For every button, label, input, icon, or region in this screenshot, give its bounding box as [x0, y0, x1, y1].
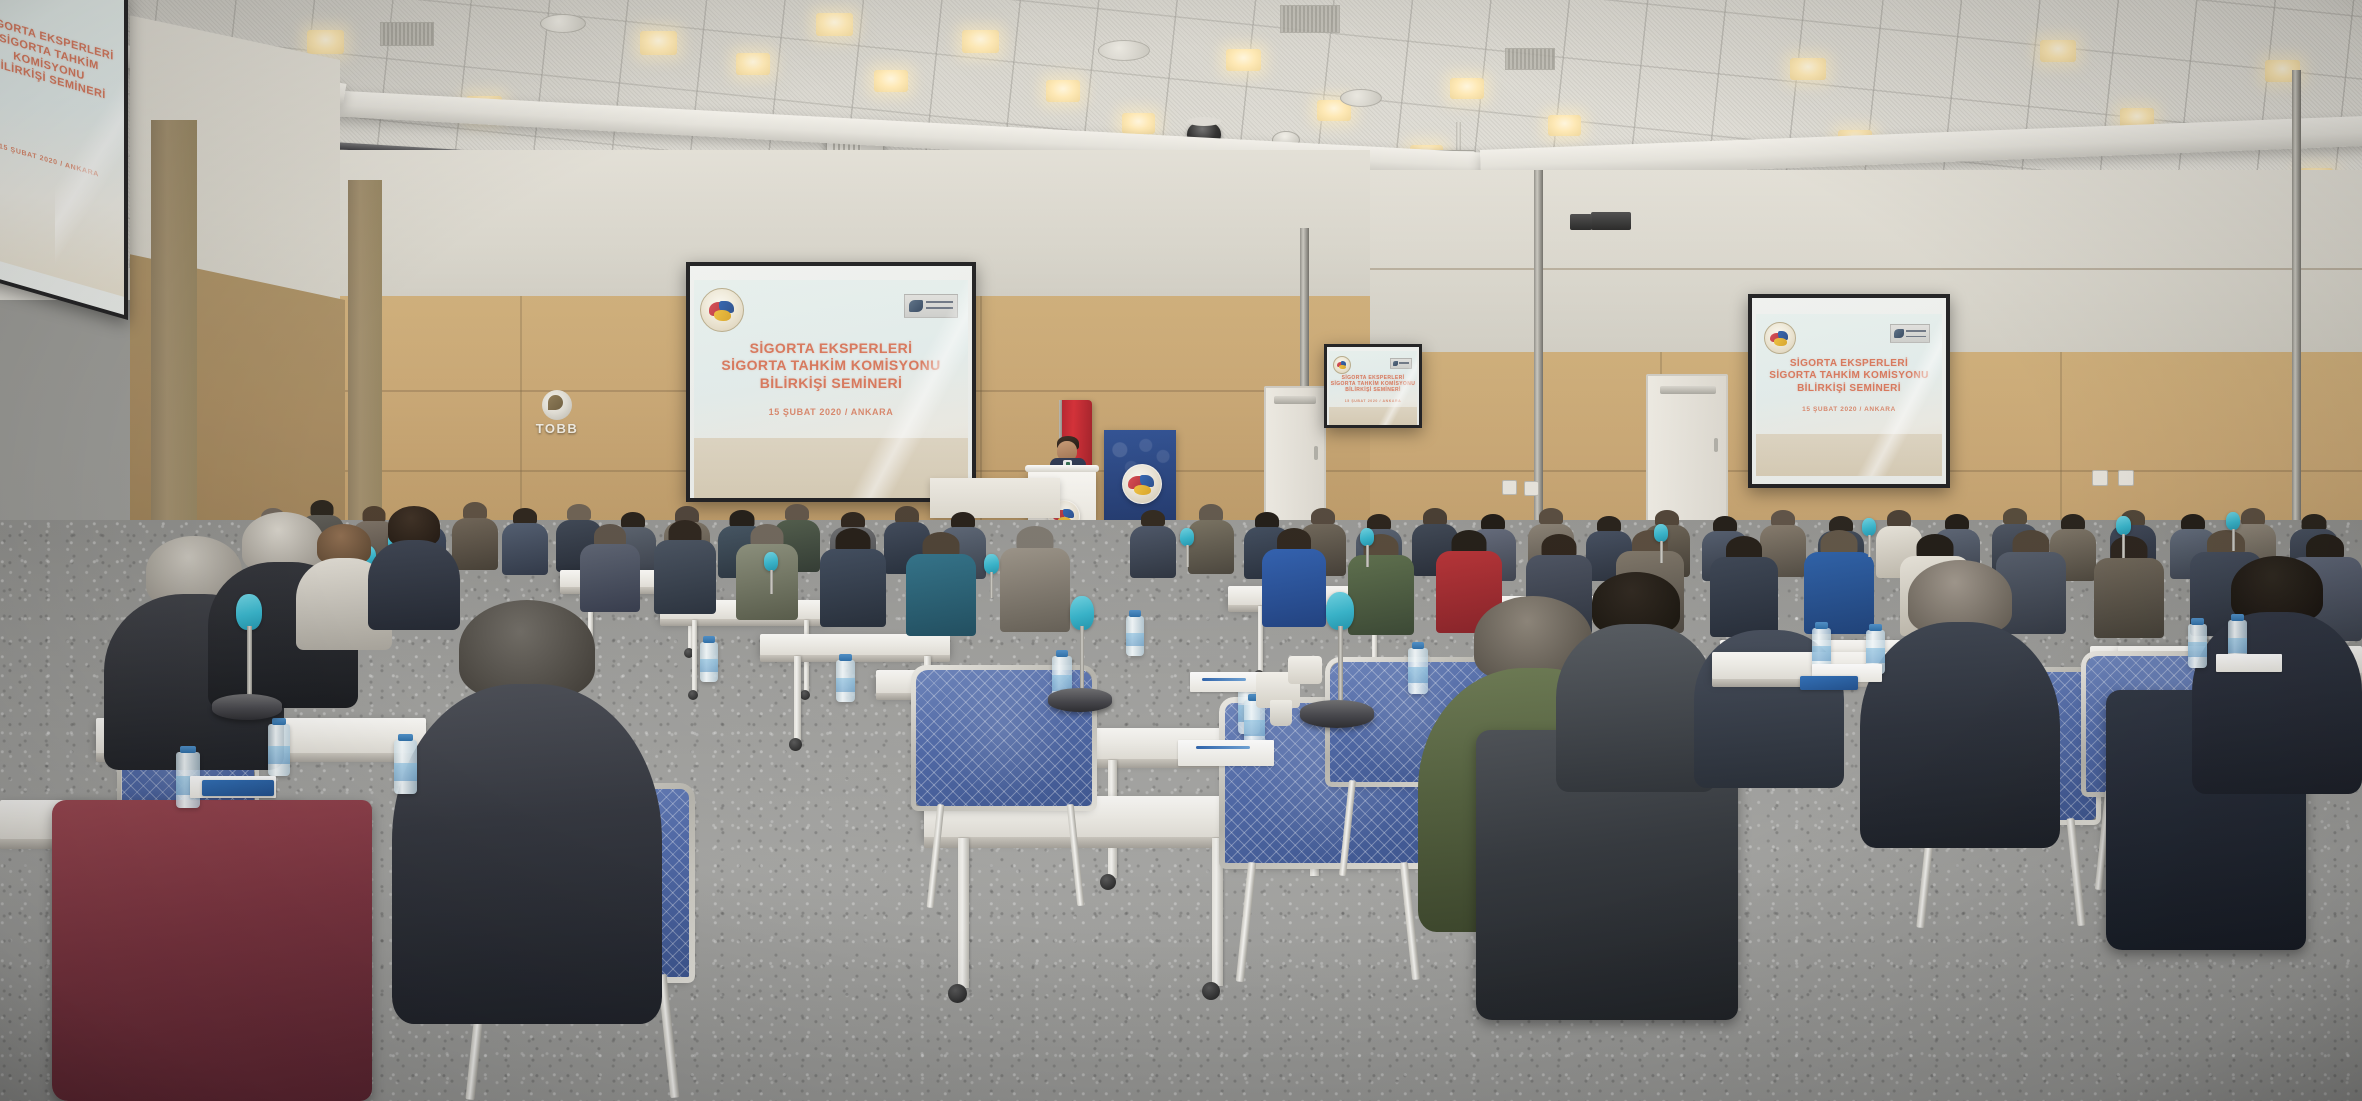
audience-person	[502, 508, 548, 572]
ceiling-air-vent	[1280, 5, 1340, 33]
table-edge	[924, 837, 1254, 848]
screen-surface: SİGORTA EKSPERLERİ SİGORTA TAHKİM KOMİSY…	[1752, 298, 1946, 484]
slide-content: SİGORTA EKSPERLERİ SİGORTA TAHKİM KOMİSY…	[694, 280, 968, 498]
slide-logo-left-icon	[700, 288, 744, 332]
slide-title: SİGORTA EKSPERLERİ SİGORTA TAHKİM KOMİSY…	[0, 11, 124, 109]
pen[interactable]	[1202, 678, 1246, 681]
audience-person	[820, 528, 886, 624]
ceiling-air-vent	[1505, 48, 1555, 70]
slide-date: 15 ŞUBAT 2020 / ANKARA	[0, 135, 124, 185]
table-caster	[948, 984, 967, 1003]
person-torso	[1188, 520, 1234, 574]
screen-surface: SİGORTA EKSPERLERİ SİGORTA TAHKİM KOMİSY…	[1327, 347, 1419, 425]
microphone-stem	[2232, 529, 2235, 551]
slide-title-line3: BİLİRKİŞİ SEMİNERİ	[1756, 383, 1942, 395]
slide-title-line2: SİGORTA TAHKİM KOMİSYONU	[1756, 370, 1942, 382]
person-shoulders	[368, 540, 460, 630]
door-closer	[1274, 396, 1316, 404]
seminar-booklet[interactable]	[1800, 676, 1858, 690]
slide-title: SİGORTA EKSPERLERİ SİGORTA TAHKİM KOMİSY…	[1756, 358, 1942, 395]
ceiling-light-panel	[816, 13, 853, 36]
slide-bottom-band	[1329, 407, 1417, 425]
microphone-base	[212, 694, 282, 720]
emblem-segment-yellow	[714, 310, 732, 321]
emblem-segment-yellow	[1339, 365, 1346, 369]
audience-person	[906, 532, 976, 634]
wall-speaker	[1591, 212, 1631, 230]
water-bottle[interactable]	[2188, 624, 2207, 668]
microphone-stem	[247, 626, 252, 702]
training-table	[760, 634, 950, 656]
slide-logo-right-icon	[904, 294, 958, 318]
person-hair	[1141, 510, 1165, 527]
ceiling-speaker	[1340, 89, 1382, 107]
slide-logo-left-icon	[1764, 322, 1796, 354]
audience-person	[654, 520, 716, 612]
ceiling-light-panel	[874, 70, 908, 92]
audience-person	[368, 506, 460, 622]
s-logo-lines	[1906, 330, 1926, 338]
s-logo-lines	[926, 301, 953, 311]
slide-date: 15 ŞUBAT 2020 / ANKARA	[694, 407, 968, 417]
slide-title-line3: BİLİRKİŞİ SEMİNERİ	[1329, 387, 1417, 393]
microphone-stem	[2122, 534, 2125, 558]
person-shoulders	[392, 684, 662, 1024]
wall-panel-seam	[1370, 268, 2362, 270]
tobb-logo-text: TOBB	[528, 421, 586, 436]
slide-content: SİGORTA EKSPERLERİ SİGORTA TAHKİM KOMİSY…	[0, 0, 124, 297]
screen-surface: SİGORTA EKSPERLERİ SİGORTA TAHKİM KOMİSY…	[690, 266, 972, 498]
water-bottle[interactable]	[700, 642, 718, 682]
person-hair	[567, 504, 591, 521]
microphone-windscreen	[1862, 518, 1876, 536]
wall-speaker	[1570, 214, 1592, 230]
main-stage-screen: SİGORTA EKSPERLERİ SİGORTA TAHKİM KOMİSY…	[686, 262, 976, 502]
table-edge	[760, 655, 950, 662]
audience-person	[1130, 510, 1176, 576]
s-logo-mark	[1393, 361, 1398, 366]
microphone-stem	[770, 570, 773, 594]
microphone-windscreen	[2226, 512, 2240, 530]
microphone-stem	[1868, 535, 1871, 557]
slide-title-line2: SİGORTA TAHKİM KOMİSYONU	[694, 357, 968, 374]
slide-content: SİGORTA EKSPERLERİ SİGORTA TAHKİM KOMİSY…	[1329, 351, 1417, 425]
table-leg	[794, 656, 801, 740]
slide-bottom-band	[1756, 434, 1942, 476]
ceiling-light-panel	[640, 31, 677, 55]
screen-surface: SİGORTA EKSPERLERİ SİGORTA TAHKİM KOMİSY…	[0, 0, 124, 315]
seminar-booklet[interactable]	[202, 780, 274, 796]
person-shoulders	[1556, 624, 1716, 792]
person-shoulders	[1860, 622, 2060, 848]
microphone-windscreen	[1070, 596, 1094, 630]
table-leg	[1212, 838, 1223, 986]
wall-panel-seam	[520, 296, 522, 536]
table-caster	[1100, 874, 1116, 890]
water-bottle[interactable]	[1408, 648, 1428, 694]
microphone-windscreen	[236, 594, 262, 630]
person-torso	[906, 554, 976, 636]
slide-content: SİGORTA EKSPERLERİ SİGORTA TAHKİM KOMİSY…	[1756, 314, 1942, 476]
slide-date: 15 ŞUBAT 2020 / ANKARA	[1329, 399, 1417, 403]
microphone-windscreen	[1360, 528, 1374, 546]
person-torso	[1000, 548, 1070, 632]
right-wall-screen: SİGORTA EKSPERLERİ SİGORTA TAHKİM KOMİSY…	[1748, 294, 1950, 488]
ceiling-light-panel	[962, 30, 999, 53]
ceiling-light-panel	[736, 53, 770, 75]
ceiling-light-panel	[1122, 113, 1155, 134]
slide-title-line1: SİGORTA EKSPERLERİ	[694, 340, 968, 357]
person-hair	[2003, 508, 2027, 525]
table-caster	[800, 690, 810, 700]
microphone-stem	[990, 572, 993, 598]
banner-emblem-icon	[1122, 464, 1162, 504]
podium-top-surface	[1025, 465, 1099, 472]
slide-logo-right-icon	[1890, 324, 1930, 343]
wall-switch-plate[interactable]	[1502, 480, 1517, 495]
person-torso	[502, 523, 548, 575]
conference-hall-photo: TOBB SİGORTA EKSPERLERİ SİGORTA TAHKİM K…	[0, 0, 2362, 1101]
water-bottle[interactable]	[268, 724, 290, 776]
s-logo-lines	[1399, 362, 1409, 366]
ceiling-speaker	[540, 14, 586, 33]
water-bottle[interactable]	[394, 740, 417, 794]
emblem-segment-yellow	[1774, 338, 1787, 346]
slide-date: 15 ŞUBAT 2020 / ANKARA	[1756, 406, 1942, 413]
person-shoulders	[2192, 612, 2362, 794]
s-logo-mark	[1894, 329, 1904, 339]
person-torso	[1130, 526, 1176, 578]
audience-person	[580, 524, 640, 610]
slide-title-line3: BİLİRKİŞİ SEMİNERİ	[694, 375, 968, 392]
ceiling-light-panel	[1226, 49, 1261, 71]
slide-logo-right-icon	[1390, 358, 1412, 369]
person-hair	[1539, 508, 1563, 525]
microphone-stem	[1366, 545, 1369, 567]
slide-title-line1: SİGORTA EKSPERLERİ	[1756, 358, 1942, 370]
door-closer	[1660, 386, 1716, 394]
table-surface	[760, 634, 950, 656]
left-wall-screen: SİGORTA EKSPERLERİ SİGORTA TAHKİM KOMİSY…	[0, 0, 128, 320]
slide-title: SİGORTA EKSPERLERİ SİGORTA TAHKİM KOMİSY…	[1329, 375, 1417, 394]
microphone-windscreen	[764, 552, 778, 571]
water-bottle[interactable]	[836, 660, 855, 702]
audience-person	[1262, 528, 1326, 624]
audience-person	[2094, 536, 2164, 636]
microphone-stem	[1080, 626, 1084, 696]
notepad[interactable]	[1178, 740, 1274, 766]
microphone-stem	[1338, 626, 1343, 706]
table-leg	[958, 838, 969, 988]
microphone-base	[1048, 688, 1112, 712]
water-bottle[interactable]	[1126, 616, 1144, 656]
microphone-windscreen	[984, 554, 999, 574]
audience-person	[1000, 526, 1070, 630]
person-torso	[2094, 558, 2164, 638]
ceiling-light-panel	[1790, 58, 1826, 80]
draped-leather-jacket	[52, 800, 372, 1101]
wall-switch-plate[interactable]	[2118, 470, 2134, 486]
microphone-windscreen	[1654, 524, 1668, 542]
wall-switch-plate[interactable]	[1524, 481, 1539, 496]
slide-bottom-band	[694, 438, 968, 498]
movable-wall-track	[2292, 70, 2301, 590]
wall-switch-plate[interactable]	[2092, 470, 2108, 486]
person-torso	[1262, 549, 1326, 627]
center-right-screen: SİGORTA EKSPERLERİ SİGORTA TAHKİM KOMİSY…	[1324, 344, 1422, 428]
ceiling-light-panel	[1450, 78, 1484, 99]
microphone-stem	[1186, 545, 1189, 567]
audience-person	[1556, 572, 1716, 786]
paper-cup[interactable]	[1270, 700, 1292, 726]
s-logo-mark	[909, 300, 923, 312]
slide-logo-left-icon	[1333, 356, 1351, 374]
audience-person	[736, 524, 798, 618]
door-handle[interactable]	[1714, 438, 1718, 452]
microphone-base	[1300, 700, 1374, 728]
person-torso	[1348, 555, 1414, 635]
ceiling-light-panel	[1548, 115, 1581, 136]
notepad[interactable]	[2216, 654, 2282, 672]
tobb-wall-logo: TOBB	[528, 390, 586, 436]
audience-person-foreground	[392, 600, 662, 1020]
audience-person	[1188, 504, 1234, 572]
microphone-windscreen	[1180, 528, 1194, 546]
emblem-segment-yellow	[1134, 485, 1151, 495]
tissue-box[interactable]	[1288, 656, 1322, 684]
door-handle[interactable]	[1314, 446, 1318, 460]
table-leg	[692, 620, 697, 692]
ceiling-speaker	[1098, 40, 1150, 61]
ceiling-light-panel	[2040, 40, 2076, 62]
ceiling-light-panel	[307, 30, 344, 54]
tobb-logo-icon	[542, 390, 572, 420]
table-caster	[688, 690, 698, 700]
audience-person	[1348, 534, 1414, 632]
microphone-windscreen	[2116, 516, 2131, 535]
person-hair	[785, 504, 809, 521]
ceiling-light-panel	[1046, 80, 1080, 102]
microphone-stem	[1660, 541, 1663, 563]
table-caster	[1202, 982, 1220, 1000]
slide-title: SİGORTA EKSPERLERİ SİGORTA TAHKİM KOMİSY…	[694, 340, 968, 392]
person-torso	[820, 549, 886, 627]
person-hair	[1311, 508, 1335, 525]
ceiling-air-vent	[380, 22, 434, 46]
pen[interactable]	[1196, 746, 1250, 749]
person-torso	[654, 540, 716, 614]
table-caster	[789, 738, 802, 751]
audience-person-foreground	[1860, 560, 2060, 840]
microphone-windscreen	[1326, 592, 1354, 630]
